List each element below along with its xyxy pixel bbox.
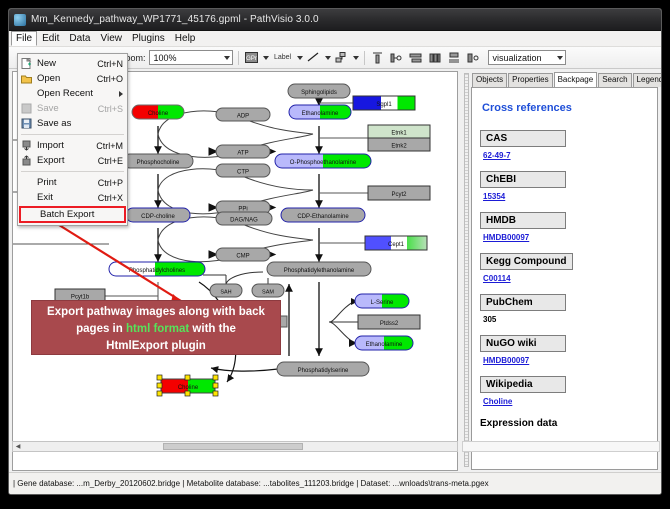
line-dropdown-icon[interactable] <box>325 56 331 60</box>
backpage-entry-pubchem: PubChem 305 <box>480 292 649 324</box>
backpage-entry-cas: CAS 62-49-7 <box>480 128 649 160</box>
status-bar: | Gene database: ...m_Derby_20120602.bri… <box>9 472 662 494</box>
svg-text:CMP: CMP <box>236 254 249 260</box>
backpage-value-pubchem: 305 <box>483 315 649 324</box>
backpage-entry-kegg: Kegg Compound C00114 <box>480 251 649 283</box>
backpage-label-cas: CAS <box>480 130 566 147</box>
tab-properties[interactable]: Properties <box>508 73 552 87</box>
visualization-combo[interactable]: visualization <box>488 50 566 65</box>
menu-item-open-recent-label: Open Recent <box>37 88 119 99</box>
svg-text:CDP-choline: CDP-choline <box>141 214 175 220</box>
node-ethanolamine-top: Ethanolamine <box>289 105 351 119</box>
node-atp: ATP <box>216 145 270 158</box>
callout-line-3: HtmlExport plugin <box>32 338 280 355</box>
zoom-combo[interactable]: 100% <box>149 50 233 65</box>
backpage-label-pubchem: PubChem <box>480 294 566 311</box>
menu-item-save-as-label: Save as <box>37 118 119 129</box>
node-adp: ADP <box>216 108 270 121</box>
node-sphingolipids: Sphingolipids <box>288 84 350 98</box>
backpage-entry-nugo: NuGO wiki HMDB00097 <box>480 333 649 365</box>
backpage-entry-wikipedia: Wikipedia Choline <box>480 374 649 406</box>
menu-data[interactable]: Data <box>64 31 95 46</box>
backpage-value-kegg[interactable]: C00114 <box>483 274 649 283</box>
import-icon <box>20 139 33 152</box>
export-icon <box>20 154 33 167</box>
menu-item-new-label: New <box>37 58 93 69</box>
node-sam: SAM <box>252 284 284 297</box>
menu-item-save-as[interactable]: Save as <box>18 116 127 131</box>
zoom-value: 100% <box>154 53 177 63</box>
callout-line-1: Export pathway images along with back <box>32 304 280 321</box>
node-sah: SAH <box>210 284 242 297</box>
callout-line-2-before: pages in <box>76 323 126 335</box>
svg-text:Sgpl1: Sgpl1 <box>376 102 392 108</box>
menu-item-import-shortcut: Ctrl+M <box>96 141 123 151</box>
node-ctp: CTP <box>216 164 270 177</box>
blank-icon-3 <box>20 191 33 204</box>
align-top-icon[interactable] <box>370 50 386 66</box>
svg-text:Sphingolipids: Sphingolipids <box>301 90 337 96</box>
svg-text:SAH: SAH <box>220 290 231 296</box>
save-as-icon <box>20 117 33 130</box>
file-menu-popup[interactable]: New Ctrl+N Open Ctrl+O Open Recent Save <box>17 53 128 226</box>
new-document-icon <box>20 57 33 70</box>
menu-item-save: Save Ctrl+S <box>18 101 127 116</box>
menu-item-batch-export[interactable]: Batch Export <box>19 206 126 223</box>
backpage-panel: Cross references CAS 62-49-7 ChEBI 15354… <box>471 87 658 470</box>
label-dropdown-icon[interactable] <box>297 56 303 60</box>
menu-bar: File Edit Data View Plugins Help <box>9 31 661 47</box>
save-disk-icon <box>20 102 33 115</box>
menu-file[interactable]: File <box>11 31 37 46</box>
menu-item-exit-shortcut: Ctrl+X <box>98 193 123 203</box>
menu-item-exit[interactable]: Exit Ctrl+X <box>18 190 127 205</box>
application-window: Mm_Kennedy_pathway_WP1771_45176.gpml - P… <box>8 8 662 495</box>
tab-search[interactable]: Search <box>598 73 631 87</box>
annotation-callout: Export pathway images along with back pa… <box>31 300 281 355</box>
menu-item-print-shortcut: Ctrl+P <box>98 178 123 188</box>
visualization-value: visualization <box>493 53 542 63</box>
menu-plugins[interactable]: Plugins <box>127 31 170 46</box>
svg-text:ADP: ADP <box>237 114 249 120</box>
group-icon[interactable] <box>465 50 481 66</box>
svg-text:Etnk2: Etnk2 <box>391 144 407 150</box>
menu-item-open[interactable]: Open Ctrl+O <box>18 71 127 86</box>
backpage-value-hmdb[interactable]: HMDB00097 <box>483 233 649 242</box>
svg-text:Etnk1: Etnk1 <box>391 131 407 137</box>
label-tool-icon[interactable]: Label <box>272 50 294 66</box>
node-cmp: CMP <box>216 248 270 261</box>
svg-text:Choline: Choline <box>148 111 169 117</box>
menu-item-new-shortcut: Ctrl+N <box>97 59 123 69</box>
callout-line-2-after: with the <box>189 323 236 335</box>
toolbar-separator-2 <box>364 51 365 65</box>
scrollbar-thumb[interactable] <box>163 443 303 450</box>
menu-edit[interactable]: Edit <box>37 31 64 46</box>
chevron-down-icon <box>224 56 230 60</box>
svg-text:DAG/NAG: DAG/NAG <box>230 218 258 224</box>
menu-item-open-shortcut: Ctrl+O <box>97 74 123 84</box>
node-choline-top: Choline <box>132 105 184 119</box>
menu-separator-2 <box>21 171 124 172</box>
scroll-left-icon[interactable]: ◀ <box>13 442 23 451</box>
node-cdp-ethanolamine: CDP-Ethanolamine <box>281 208 365 222</box>
svg-text:CDP-Ethanolamine: CDP-Ethanolamine <box>297 214 349 220</box>
align-center-icon[interactable] <box>408 50 424 66</box>
backpage-title: Cross references <box>482 102 649 114</box>
backpage-label-wikipedia: Wikipedia <box>480 376 566 393</box>
svg-text:Phosphatidylethanolamine: Phosphatidylethanolamine <box>284 268 355 274</box>
svg-text:Pcyt2: Pcyt2 <box>391 192 407 198</box>
node-l-serine: L-Serine <box>355 294 409 308</box>
node-choline-selected: Choline <box>157 375 218 396</box>
dock-bottom-filler <box>462 441 660 452</box>
title-bar: Mm_Kennedy_pathway_WP1771_45176.gpml - P… <box>9 9 661 31</box>
svg-text:ATP: ATP <box>237 151 248 157</box>
menu-item-open-recent[interactable]: Open Recent <box>18 86 127 101</box>
menu-item-print[interactable]: Print Ctrl+P <box>18 175 127 190</box>
menu-item-batch-export-label: Batch Export <box>40 209 120 220</box>
node-phosphatidylserine: Phosphatidylserine <box>277 362 369 376</box>
submenu-chevron-icon <box>119 91 123 97</box>
node-cdp-choline: CDP-choline <box>126 208 190 222</box>
svg-text:SAM: SAM <box>262 290 274 296</box>
screenshot-root: Mm_Kennedy_pathway_WP1771_45176.gpml - P… <box>0 0 670 509</box>
callout-line-2: pages in html format with the <box>32 321 280 338</box>
backpage-value-nugo[interactable]: HMDB00097 <box>483 356 649 365</box>
window-title: Mm_Kennedy_pathway_WP1771_45176.gpml - P… <box>31 14 319 25</box>
dock-drag-grip[interactable] <box>464 73 469 467</box>
gene-product-icon[interactable]: GPr <box>244 50 260 66</box>
label-tool-text: Label <box>272 54 293 61</box>
node-dag-nag: DAG/NAG <box>216 212 272 225</box>
menu-item-export-shortcut: Ctrl+E <box>98 156 123 166</box>
backpage-value-chebi[interactable]: 15354 <box>483 192 649 201</box>
node-sgpl1: Sgpl1 <box>353 96 415 110</box>
callout-highlight: html format <box>126 323 189 335</box>
svg-text:GPr: GPr <box>246 56 257 62</box>
node-etnk2: Etnk2 <box>368 138 430 151</box>
menu-item-print-label: Print <box>37 177 94 188</box>
menu-help[interactable]: Help <box>170 31 201 46</box>
align-left-icon[interactable] <box>389 50 405 66</box>
chevron-down-icon-2 <box>557 56 563 60</box>
tab-legend[interactable]: Legend <box>633 73 662 87</box>
node-ethanolamine-low: Ethanolamine <box>355 336 413 350</box>
toolbar-separator <box>238 51 239 65</box>
backpage-entry-hmdb: HMDB HMDB00097 <box>480 210 649 242</box>
backpage-value-wikipedia[interactable]: Choline <box>483 397 649 406</box>
node-etnk1: Etnk1 <box>368 125 430 138</box>
menu-item-save-label: Save <box>37 103 94 114</box>
pathvisio-icon <box>14 14 26 26</box>
menu-separator-1 <box>21 134 124 135</box>
menu-item-import[interactable]: Import Ctrl+M <box>18 138 127 153</box>
node-o-phosphoethanolamine: O-Phosphoethanolamine <box>275 154 371 168</box>
node-ptdss2: Ptdss2 <box>358 315 420 329</box>
backpage-footer: Expression data <box>480 418 649 429</box>
backpage-value-cas[interactable]: 62-49-7 <box>483 151 649 160</box>
blank-icon-2 <box>20 176 33 189</box>
gene-product-dropdown-icon[interactable] <box>263 56 269 60</box>
svg-text:O-Phosphoethanolamine: O-Phosphoethanolamine <box>290 160 357 166</box>
canvas-horizontal-scrollbar[interactable]: ◀ <box>12 441 458 452</box>
svg-text:Phosphatidylserine: Phosphatidylserine <box>298 368 349 374</box>
menu-item-open-label: Open <box>37 73 93 84</box>
node-pcyt2: Pcyt2 <box>368 186 430 200</box>
stack-icon[interactable] <box>446 50 462 66</box>
node-phosphatidylethanolamine: Phosphatidylethanolamine <box>267 262 371 276</box>
backpage-label-nugo: NuGO wiki <box>480 335 566 352</box>
node-phosphocholine: Phosphocholine <box>123 154 193 168</box>
tab-objects[interactable]: Objects <box>472 73 507 87</box>
status-bar-text: | Gene database: ...m_Derby_20120602.bri… <box>13 479 489 488</box>
backpage-label-chebi: ChEBI <box>480 171 566 188</box>
backpage-label-hmdb: HMDB <box>480 212 566 229</box>
blank-icon <box>20 87 33 100</box>
svg-text:Ptdss2: Ptdss2 <box>380 321 399 327</box>
svg-text:L-Serine: L-Serine <box>371 300 394 306</box>
menu-item-export[interactable]: Export Ctrl+E <box>18 153 127 168</box>
svg-text:Ethanolamine: Ethanolamine <box>302 111 339 117</box>
backpage-label-kegg: Kegg Compound <box>480 253 573 270</box>
open-folder-icon <box>20 72 33 85</box>
line-tool-icon[interactable] <box>306 50 322 66</box>
common-width-icon[interactable] <box>427 50 443 66</box>
svg-text:Ethanolamine: Ethanolamine <box>366 342 403 348</box>
menu-item-save-shortcut: Ctrl+S <box>98 104 123 114</box>
svg-text:Choline: Choline <box>178 385 199 391</box>
menu-item-new[interactable]: New Ctrl+N <box>18 56 127 71</box>
dock-tab-strip: Objects Properties Backpage Search Legen… <box>462 71 660 87</box>
interaction-tool-icon[interactable] <box>334 50 350 66</box>
node-cept1: Cept1 <box>365 236 427 250</box>
side-dock: Objects Properties Backpage Search Legen… <box>462 71 660 471</box>
menu-view[interactable]: View <box>95 31 127 46</box>
svg-text:CTP: CTP <box>237 170 249 176</box>
blank-icon-4 <box>23 208 36 221</box>
menu-item-export-label: Export <box>37 155 94 166</box>
interaction-dropdown-icon[interactable] <box>353 56 359 60</box>
backpage-entry-chebi: ChEBI 15354 <box>480 169 649 201</box>
menu-item-import-label: Import <box>37 140 92 151</box>
menu-item-exit-label: Exit <box>37 192 94 203</box>
svg-text:Cept1: Cept1 <box>388 242 405 248</box>
tab-backpage[interactable]: Backpage <box>554 72 598 87</box>
svg-text:Phosphocholine: Phosphocholine <box>137 160 180 166</box>
